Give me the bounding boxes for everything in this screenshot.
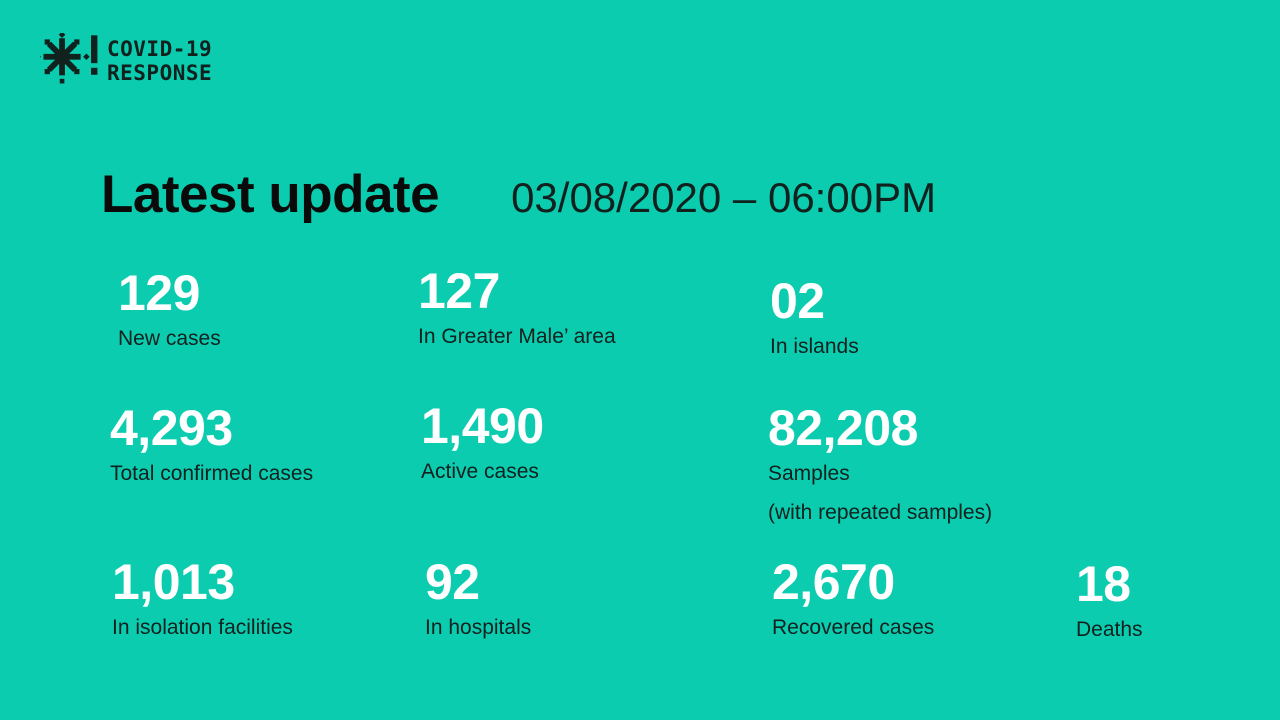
stat-label: In islands (770, 334, 859, 360)
stat-label: New cases (118, 326, 221, 352)
stat-value: 1,490 (421, 401, 544, 451)
brand-line-1: COVID-19 (107, 38, 212, 62)
stat-sublabel: (with repeated samples) (768, 500, 992, 526)
stat-deaths: 18 Deaths (1076, 559, 1143, 643)
stat-in-islands: 02 In islands (770, 276, 859, 360)
stat-label: In hospitals (425, 615, 531, 641)
stat-value: 127 (418, 266, 616, 316)
stat-value: 1,013 (112, 557, 293, 607)
stat-in-isolation-facilities: 1,013 In isolation facilities (112, 557, 293, 641)
covid-asterisk-exclamation-icon (40, 33, 98, 91)
stat-in-hospitals: 92 In hospitals (425, 557, 531, 641)
stat-value: 129 (118, 268, 221, 318)
header: Latest update 03/08/2020 – 06:00PM (101, 168, 936, 221)
stat-active-cases: 1,490 Active cases (421, 401, 544, 485)
stat-label: Total confirmed cases (110, 461, 313, 487)
stat-label: In isolation facilities (112, 615, 293, 641)
stat-value: 92 (425, 557, 531, 607)
stat-value: 18 (1076, 559, 1143, 609)
brand-line-2: RESPONSE (107, 62, 212, 86)
stat-new-cases: 129 New cases (118, 268, 221, 352)
stat-label: Samples (768, 461, 992, 487)
stat-value: 2,670 (772, 557, 934, 607)
stat-label: In Greater Male’ area (418, 324, 616, 350)
stat-label: Active cases (421, 459, 544, 485)
page-title: Latest update (101, 168, 439, 221)
brand-logo-text: COVID-19 RESPONSE (107, 38, 212, 85)
brand-logo: COVID-19 RESPONSE (40, 33, 212, 91)
stat-label: Recovered cases (772, 615, 934, 641)
update-timestamp: 03/08/2020 – 06:00PM (511, 177, 936, 219)
stat-recovered-cases: 2,670 Recovered cases (772, 557, 934, 641)
stat-label: Deaths (1076, 617, 1143, 643)
covid-update-slide: COVID-19 RESPONSE Latest update 03/08/20… (0, 0, 1280, 720)
stat-greater-male-area: 127 In Greater Male’ area (418, 266, 616, 350)
stat-value: 4,293 (110, 403, 313, 453)
stat-value: 82,208 (768, 403, 992, 453)
stat-total-confirmed-cases: 4,293 Total confirmed cases (110, 403, 313, 487)
stat-samples: 82,208 Samples (with repeated samples) (768, 403, 992, 527)
stat-value: 02 (770, 276, 859, 326)
